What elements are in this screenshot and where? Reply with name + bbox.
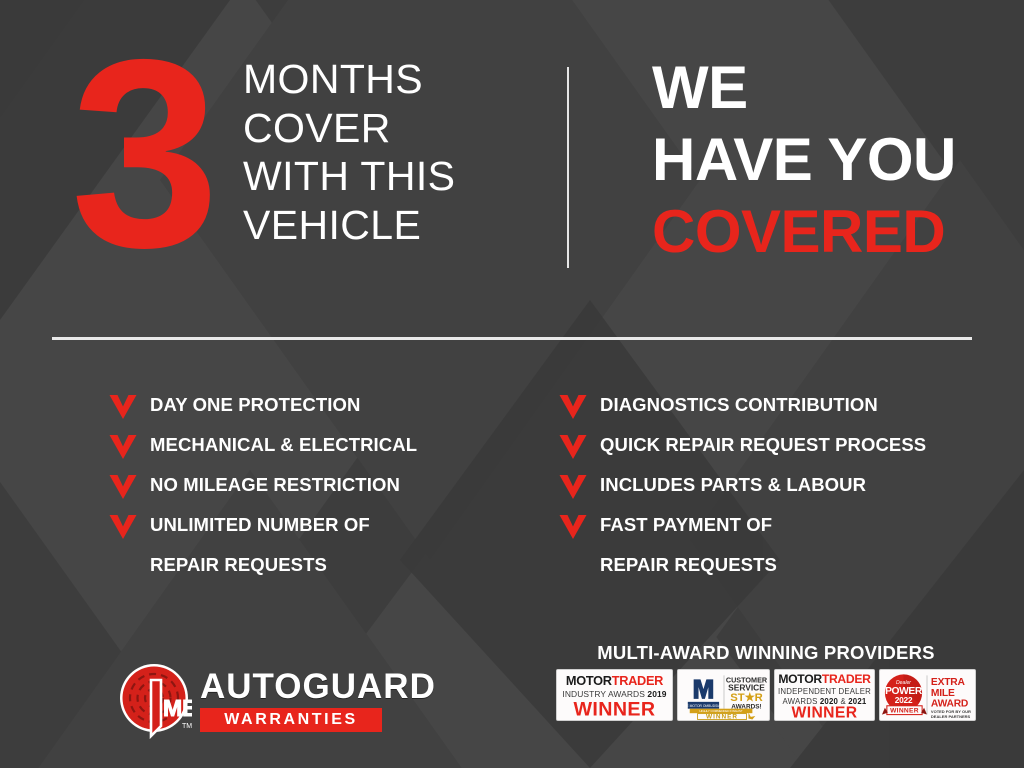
- svg-text:INDEPENDENT DEALER: INDEPENDENT DEALER: [778, 687, 871, 696]
- feature-item: UNLIMITED NUMBER OF: [108, 512, 538, 552]
- headline-right-line-1: WE: [652, 52, 956, 124]
- award-badge-motor-trader-independent-dealer: MOTORTRADER INDEPENDENT DEALER AWARDS 20…: [774, 669, 875, 721]
- headline-left-line-4: VEHICLE: [243, 201, 455, 250]
- feature-label: REPAIR REQUESTS: [600, 552, 777, 578]
- svg-text:TM: TM: [182, 723, 192, 730]
- svg-text:MOTORTRADER: MOTORTRADER: [566, 673, 663, 688]
- feature-label: QUICK REPAIR REQUEST PROCESS: [600, 432, 926, 458]
- feature-item: QUICK REPAIR REQUEST PROCESS: [558, 432, 988, 472]
- award-badge-motor-trader-2019: MOTORTRADER INDUSTRY AWARDS 2019 WINNER: [556, 669, 673, 721]
- check-icon: [108, 434, 138, 460]
- autoguard-subtitle: WARRANTIES: [200, 708, 382, 732]
- headline-right-line-3: COVERED: [652, 196, 956, 268]
- svg-text:MBi: MBi: [163, 695, 192, 721]
- feature-item: FAST PAYMENT OF: [558, 512, 988, 552]
- svg-text:AWARD: AWARD: [931, 699, 968, 710]
- feature-column-left: DAY ONE PROTECTION MECHANICAL & ELECTRIC…: [108, 392, 538, 592]
- svg-text:MOTORTRADER: MOTORTRADER: [778, 672, 871, 686]
- svg-text:WINNER: WINNER: [706, 713, 738, 720]
- headline-left-line-1: MONTHS: [243, 55, 455, 104]
- feature-item: MECHANICAL & ELECTRICAL: [108, 432, 538, 472]
- feature-label: MECHANICAL & ELECTRICAL: [150, 432, 417, 458]
- mbi-logo-icon: MBi TM: [118, 660, 192, 740]
- feature-lists: DAY ONE PROTECTION MECHANICAL & ELECTRIC…: [108, 392, 988, 592]
- svg-text:INDUSTRY AWARDS 2019: INDUSTRY AWARDS 2019: [562, 689, 666, 699]
- feature-label: INCLUDES PARTS & LABOUR: [600, 472, 866, 498]
- svg-text:DEALER PARTNERS: DEALER PARTNERS: [931, 714, 971, 719]
- cover-months-number: 3: [52, 28, 232, 278]
- award-badge-row: MOTORTRADER INDUSTRY AWARDS 2019 WINNER …: [556, 669, 976, 721]
- feature-item-continuation: REPAIR REQUESTS: [108, 552, 538, 592]
- award-badge-extra-mile-award: Dealer POWER 2022 WINNER EXTRA MILE AWAR…: [879, 669, 976, 721]
- section-divider: [52, 337, 972, 340]
- check-icon: [558, 434, 588, 460]
- feature-item: DAY ONE PROTECTION: [108, 392, 538, 432]
- feature-item: NO MILEAGE RESTRICTION: [108, 472, 538, 512]
- feature-label: REPAIR REQUESTS: [150, 552, 327, 578]
- headline-vertical-divider: [567, 67, 569, 268]
- promo-poster: 3 MONTHS COVER WITH THIS VEHICLE WE HAVE…: [0, 0, 1024, 768]
- feature-label: UNLIMITED NUMBER OF: [150, 512, 370, 538]
- svg-text:ST★R: ST★R: [730, 692, 763, 704]
- svg-text:MILE: MILE: [931, 688, 955, 699]
- awards-title: MULTI-AWARD WINNING PROVIDERS: [556, 642, 976, 664]
- check-icon: [558, 514, 588, 540]
- check-icon: [558, 474, 588, 500]
- feature-item: INCLUDES PARTS & LABOUR: [558, 472, 988, 512]
- headline-left: MONTHS COVER WITH THIS VEHICLE: [243, 55, 455, 249]
- feature-label: DAY ONE PROTECTION: [150, 392, 360, 418]
- feature-item: DIAGNOSTICS CONTRIBUTION: [558, 392, 988, 432]
- svg-text:EXTRA: EXTRA: [931, 677, 966, 688]
- headline-right: WE HAVE YOU COVERED: [652, 52, 956, 268]
- svg-text:2022: 2022: [895, 695, 913, 705]
- autoguard-wordmark: AUTOGUARD WARRANTIES: [200, 669, 436, 732]
- feature-label: NO MILEAGE RESTRICTION: [150, 472, 400, 498]
- feature-column-right: DIAGNOSTICS CONTRIBUTION QUICK REPAIR RE…: [558, 392, 988, 592]
- headline-right-line-2: HAVE YOU: [652, 124, 956, 196]
- feature-label: DIAGNOSTICS CONTRIBUTION: [600, 392, 878, 418]
- svg-text:WINNER: WINNER: [890, 707, 919, 714]
- award-badge-customer-service-star: THE MOTOR OMBUDSMAN CUSTOMER SERVICE ST★…: [677, 669, 770, 721]
- check-icon: [558, 394, 588, 420]
- headline-left-line-2: COVER: [243, 104, 455, 153]
- autoguard-logo: MBi TM AUTOGUARD WARRANTIES: [118, 660, 436, 740]
- svg-text:WINNER: WINNER: [573, 699, 655, 721]
- autoguard-name: AUTOGUARD: [200, 669, 436, 705]
- check-icon: [108, 514, 138, 540]
- awards-section: MULTI-AWARD WINNING PROVIDERS MOTORTRADE…: [556, 642, 976, 721]
- check-icon: [108, 394, 138, 420]
- svg-text:THE MOTOR OMBUDSMAN: THE MOTOR OMBUDSMAN: [682, 704, 725, 708]
- svg-text:WINNER: WINNER: [792, 705, 858, 721]
- feature-label: FAST PAYMENT OF: [600, 512, 772, 538]
- headline-left-line-3: WITH THIS: [243, 152, 455, 201]
- feature-item-continuation: REPAIR REQUESTS: [558, 552, 988, 592]
- check-icon: [108, 474, 138, 500]
